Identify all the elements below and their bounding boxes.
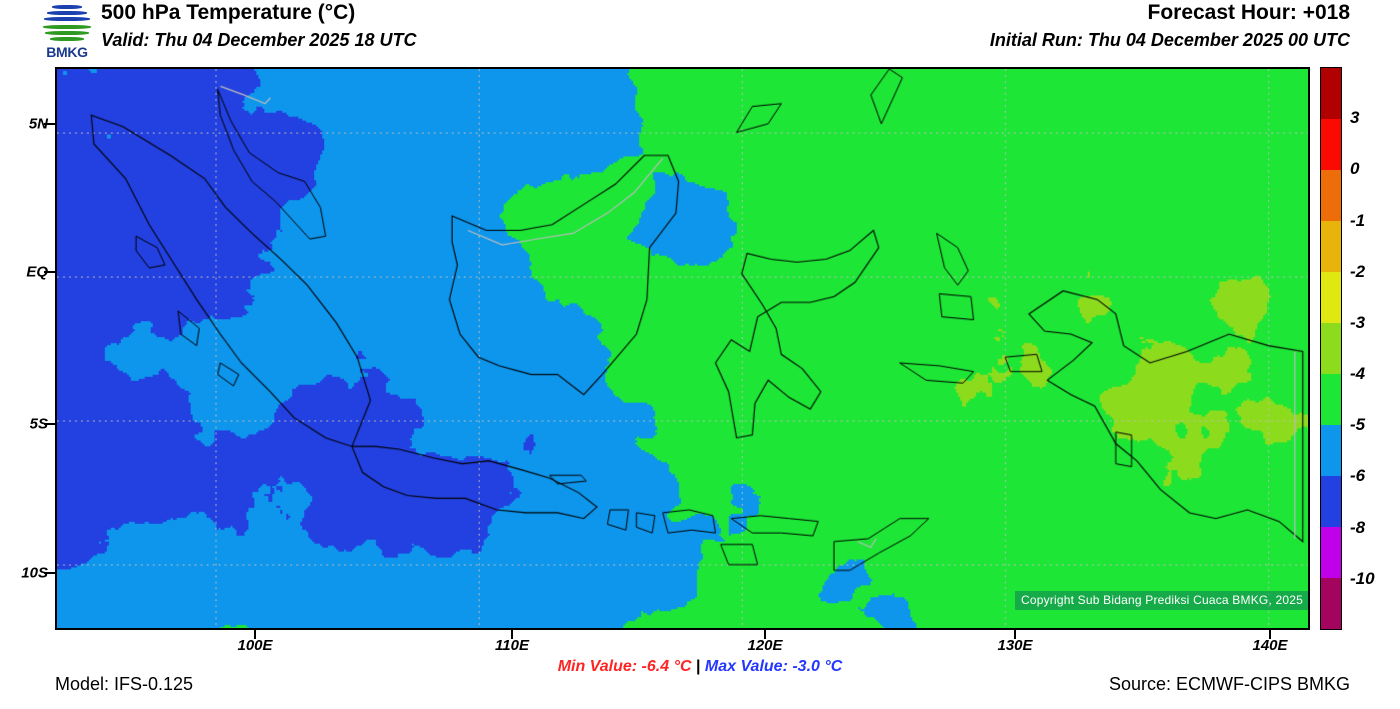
- colorbar-band-5: [1321, 323, 1341, 374]
- colorbar-band-2: [1321, 170, 1341, 221]
- colorbar-band-8: [1321, 476, 1341, 527]
- colorbar-tick-6: -5: [1350, 415, 1365, 435]
- forecast-hour-label: Forecast Hour: +018: [1148, 1, 1351, 25]
- lon-tick: [764, 630, 766, 639]
- colorbar-band-3: [1321, 221, 1341, 272]
- min-value-label: Min Value: -6.4 °C: [558, 658, 692, 675]
- colorbar-tick-2: -1: [1350, 211, 1365, 231]
- lon-label-140e: 140E: [1252, 637, 1287, 654]
- colorbar-tick-1: 0: [1350, 159, 1359, 179]
- lon-tick: [511, 630, 513, 639]
- minmax-separator: |: [696, 658, 700, 675]
- lat-tick: [44, 423, 55, 425]
- bmkg-logo-icon: [42, 2, 92, 46]
- page-title: 500 hPa Temperature (°C): [101, 1, 355, 25]
- colorbar-tick-3: -2: [1350, 262, 1365, 282]
- temperature-colorbar: [1320, 67, 1342, 630]
- colorbar-band-6: [1321, 374, 1341, 425]
- lat-tick: [44, 123, 55, 125]
- lat-tick: [44, 572, 55, 574]
- colorbar-band-9: [1321, 527, 1341, 578]
- header: BMKG 500 hPa Temperature (°C) Valid: Thu…: [0, 0, 1400, 62]
- lon-label-110e: 110E: [495, 637, 529, 654]
- colorbar-tick-5: -4: [1350, 364, 1365, 384]
- temperature-field-canvas: [57, 69, 1308, 628]
- max-value-label: Max Value: -3.0 °C: [705, 658, 842, 675]
- bmkg-logo: BMKG: [36, 2, 98, 60]
- colorbar-tick-4: -3: [1350, 313, 1365, 333]
- bmkg-logo-text: BMKG: [36, 44, 98, 60]
- valid-time-label: Valid: Thu 04 December 2025 18 UTC: [101, 30, 416, 51]
- colorbar-band-1: [1321, 119, 1341, 170]
- initial-run-label: Initial Run: Thu 04 December 2025 00 UTC: [990, 30, 1350, 51]
- colorbar-band-4: [1321, 272, 1341, 323]
- colorbar-band-7: [1321, 425, 1341, 476]
- lon-label-120e: 120E: [747, 637, 782, 654]
- colorbar-band-10: [1321, 578, 1341, 629]
- model-label: Model: IFS-0.125: [55, 674, 193, 695]
- lon-label-130e: 130E: [997, 637, 1032, 654]
- lon-tick: [1269, 630, 1271, 639]
- lon-label-100e: 100E: [237, 637, 272, 654]
- colorbar-tick-0: 3: [1350, 108, 1359, 128]
- colorbar-tick-9: -10: [1350, 569, 1375, 589]
- temperature-map[interactable]: Copyright Sub Bidang Prediksi Cuaca BMKG…: [55, 67, 1310, 630]
- copyright-watermark: Copyright Sub Bidang Prediksi Cuaca BMKG…: [1015, 591, 1308, 610]
- colorbar-tick-7: -6: [1350, 466, 1365, 486]
- source-label: Source: ECMWF-CIPS BMKG: [1109, 674, 1350, 695]
- lat-tick: [44, 271, 55, 273]
- lon-tick: [254, 630, 256, 639]
- lon-tick: [1014, 630, 1016, 639]
- colorbar-tick-8: -8: [1350, 518, 1365, 538]
- colorbar-band-0: [1321, 68, 1341, 119]
